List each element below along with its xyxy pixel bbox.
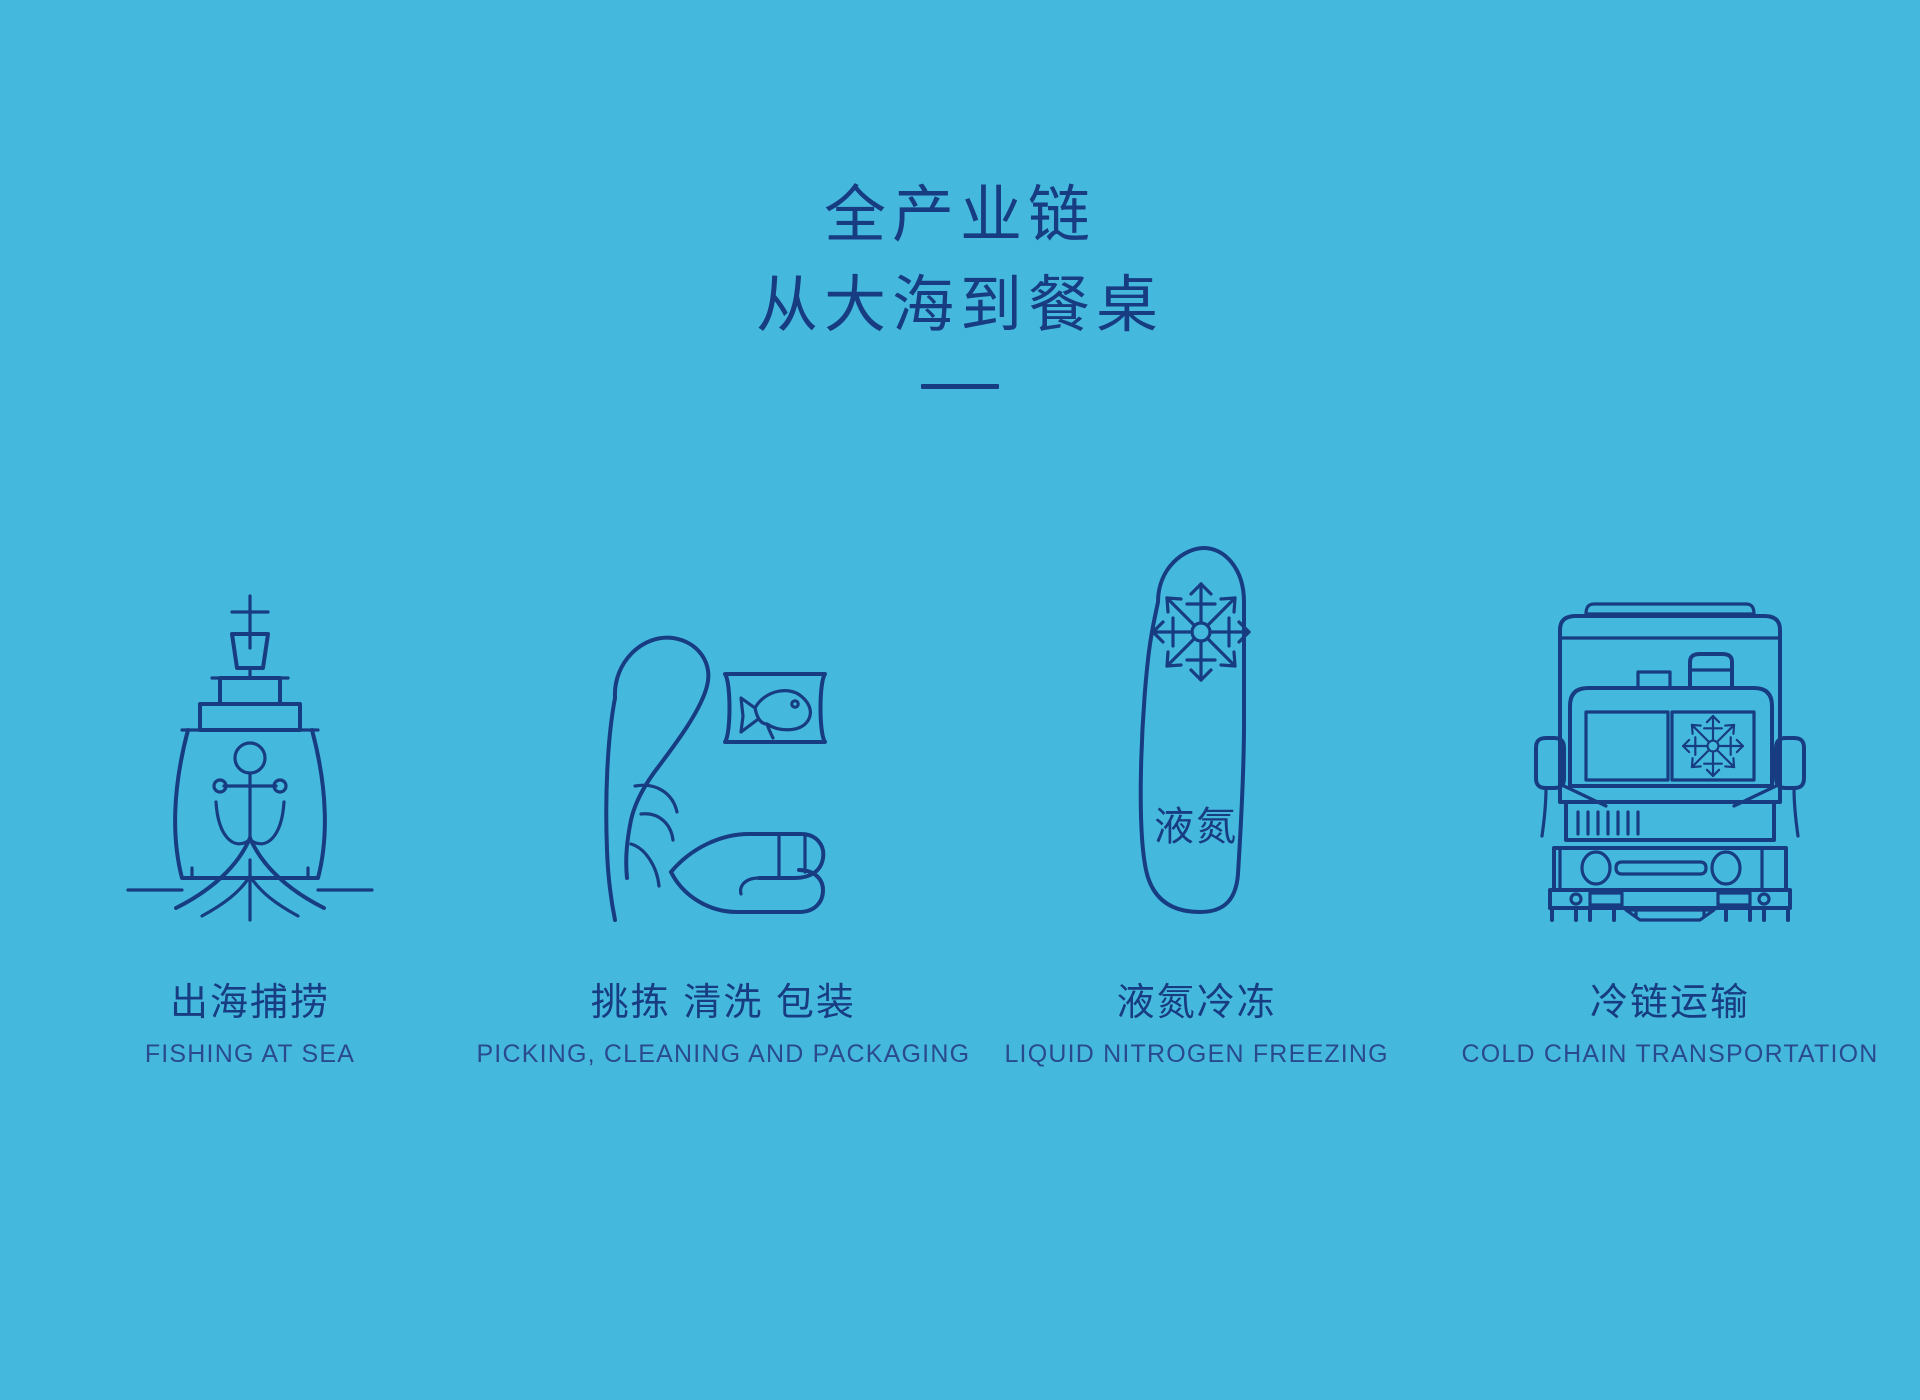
page-title-line-1: 全产业链	[0, 170, 1920, 260]
refrigerated-truck-icon	[1530, 520, 1810, 920]
step-label-cn: 液氮冷冻	[1004, 980, 1388, 1028]
step-picking-cleaning-packaging: 挑拣 清洗 包装 PICKING, CLEANING AND PACKAGING	[493, 520, 953, 1069]
hands-with-packaged-fish-icon	[573, 520, 873, 920]
liquid-nitrogen-tank-icon: 液氮	[1112, 520, 1282, 920]
fishing-boat-icon	[120, 520, 380, 920]
step-label-en: COLD CHAIN TRANSPORTATION	[1461, 1040, 1878, 1069]
step-label-en: LIQUID NITROGEN FREEZING	[1004, 1040, 1388, 1069]
step-labels: 液氮冷冻 LIQUID NITROGEN FREEZING	[1004, 980, 1388, 1069]
step-label-cn: 挑拣 清洗 包装	[476, 980, 970, 1028]
title-divider	[921, 384, 999, 389]
step-fishing-at-sea: 出海捕捞 FISHING AT SEA	[20, 520, 480, 1069]
page-header: 全产业链 从大海到餐桌	[0, 170, 1920, 389]
infographic-page: 全产业链 从大海到餐桌	[0, 0, 1920, 1400]
step-liquid-nitrogen-freezing: 液氮 液氮冷冻 LIQUID NITROGEN FREEZING	[967, 520, 1427, 1069]
step-label-en: PICKING, CLEANING AND PACKAGING	[476, 1040, 970, 1069]
step-cold-chain-transportation: 冷链运输 COLD CHAIN TRANSPORTATION	[1440, 520, 1900, 1069]
process-steps-row: 出海捕捞 FISHING AT SEA	[0, 520, 1920, 1069]
step-labels: 冷链运输 COLD CHAIN TRANSPORTATION	[1461, 980, 1878, 1069]
step-labels: 挑拣 清洗 包装 PICKING, CLEANING AND PACKAGING	[476, 980, 970, 1069]
step-label-en: FISHING AT SEA	[145, 1040, 355, 1069]
page-title-line-2: 从大海到餐桌	[0, 260, 1920, 350]
step-label-cn: 冷链运输	[1461, 980, 1878, 1028]
step-labels: 出海捕捞 FISHING AT SEA	[145, 980, 355, 1069]
step-label-cn: 出海捕捞	[145, 980, 355, 1028]
tank-label: 液氮	[1154, 804, 1238, 850]
